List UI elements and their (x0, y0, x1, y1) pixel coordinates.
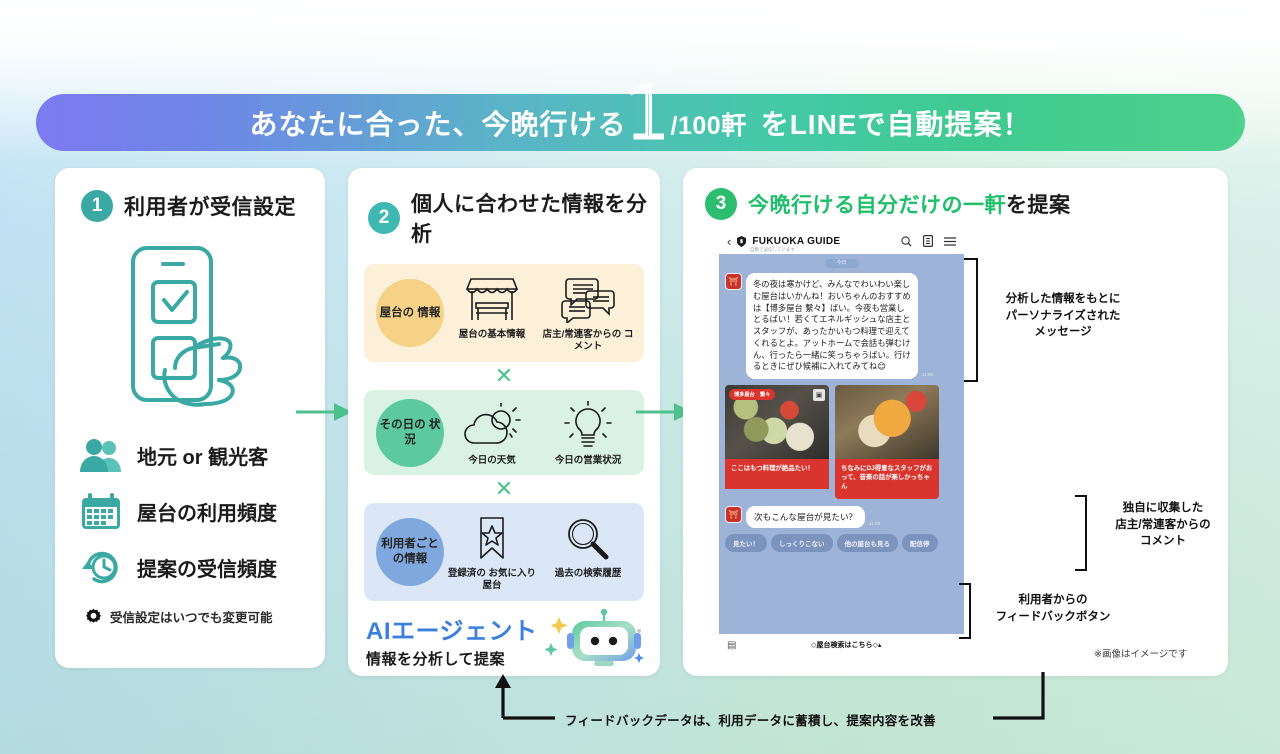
feature-label-2: 提案の受信頻度 (137, 553, 277, 582)
line-chat-mockup: ‹ FUKUOKA GUIDE 自動で返信しています (719, 228, 964, 656)
annotation-text-0: 分析した情報をもとに パーソナライズされた メッセージ (1006, 293, 1121, 338)
bracket-annotation-0 (964, 258, 978, 382)
photo-icon: ▣ (813, 389, 825, 401)
multiply-separator-1: ✕ (348, 475, 660, 503)
market-stall-icon (444, 273, 540, 323)
line-chat-header: ‹ FUKUOKA GUIDE 自動で返信しています (719, 228, 964, 254)
multiply-separator-0: ✕ (348, 362, 660, 390)
feature-item-2: 提案の受信頻度 (79, 539, 325, 595)
stall-card-badge-0: 博多屋台 繋々 (729, 389, 775, 400)
annotation-feedback-buttons: 利用者からの フィードバックボタン (978, 592, 1128, 625)
feedback-chip-row: 見たい！ しっくりこない 他の屋台も見る 配信停 (725, 534, 958, 552)
group-circle-text-1: その日の 状況 (376, 418, 444, 448)
image-disclaimer-note: ※画像はイメージです (1094, 646, 1187, 660)
header-banner: あなたに合った、今晩行ける 1 /100軒 をLINEで自動提案！ (36, 94, 1245, 151)
avatar: ⛩ (725, 273, 742, 290)
stall-card-caption-1: ちなみにDJ得意なスタッフがおって、音楽の話が楽しかっちゃん (835, 459, 939, 499)
people-icon (79, 433, 123, 477)
banner-denominator: /100軒 (671, 106, 747, 142)
feedback-chip-2[interactable]: 他の屋台も見る (837, 534, 899, 552)
data-group-user-info: 利用者ごと の情報 登録済の お気に入り屋台 (364, 503, 644, 601)
stall-photo-0: 博多屋台 繋々 ▣ (725, 385, 829, 459)
panel3-step-badge: 3 (705, 188, 737, 220)
ai-agent-title: AIエージェント (366, 611, 538, 646)
panel-line-proposal: 3 今晩行ける自分だけの一軒を提案 ‹ FUKUOKA GUIDE 自動で返信し… (683, 168, 1228, 676)
chat-message-row-ask: ⛩ 次もこんな屋台が見たい？ 11:58 (725, 506, 958, 528)
chevron-left-icon[interactable]: ‹ (727, 235, 731, 248)
chat-ask-time: 11:58 (869, 521, 880, 526)
data-group-daily-status: その日の 状況 今日の天気 (364, 390, 644, 475)
annotation-personalized-message: 分析した情報をもとに パーソナライズされた メッセージ (983, 291, 1143, 341)
feature-label-1: 屋台の利用頻度 (137, 497, 277, 526)
ai-agent-section: AIエージェント 情報を分析して提案 (366, 609, 660, 671)
stall-card-caption-0: ここはもつ料理が絶品たい！ (725, 459, 829, 489)
group-circle-label-0: 屋台の 情報 (376, 279, 444, 347)
panel2-title: 個人に合わせた情報を分析 (411, 188, 660, 248)
lightbulb-icon (540, 399, 636, 449)
panel2-header: 2 個人に合わせた情報を分析 (368, 188, 660, 248)
group1-item-label-0: 今日の天気 (444, 455, 540, 467)
bookmark-star-icon (444, 512, 540, 562)
annotation-owner-comments: 独自に収集した 店主/常連客からの コメント (1093, 500, 1233, 550)
group0-item-1: 店主/常連客からの コメント (540, 273, 636, 354)
stall-search-link[interactable]: ◇屋台検索はこちら◇▴ (736, 640, 956, 650)
chat-message-time: 11:58 (922, 372, 933, 377)
line-account-subtitle: 自動で返信しています (750, 247, 795, 253)
group-circle-label-1: その日の 状況 (376, 399, 444, 467)
search-icon[interactable] (901, 236, 912, 247)
group-circle-text-0: 屋台の 情報 (380, 306, 441, 321)
gear-icon (85, 608, 102, 625)
panel1-title: 利用者が受信設定 (124, 191, 296, 221)
feature-item-1: 屋台の利用頻度 (79, 483, 325, 539)
panel3-title: 今晩行ける自分だけの一軒を提案 (748, 189, 1071, 219)
group2-item-label-0: 登録済の お気に入り屋台 (444, 568, 540, 593)
clock-history-icon (79, 545, 123, 589)
group0-item-label-1: 店主/常連客からの コメント (540, 329, 636, 354)
note-icon[interactable] (923, 235, 933, 247)
panel1-footnote: 受信設定はいつでも変更可能 (85, 607, 325, 626)
avatar: ⛩ (725, 506, 742, 523)
group1-item-1: 今日の営業状況 (540, 399, 636, 467)
group1-item-0: 今日の天気 (444, 399, 540, 467)
panel3-title-rest: を提案 (1006, 194, 1071, 217)
feedback-chip-0[interactable]: 見たい！ (725, 534, 767, 552)
stall-card-1[interactable]: ちなみにDJ得意なスタッフがおって、音楽の話が楽しかっちゃん (835, 385, 939, 499)
feature-label-0: 地元 or 観光客 (137, 441, 268, 470)
speech-bubbles-icon (540, 273, 636, 323)
feedback-loop-note: フィードバックデータは、利用データに蓄積し、提案内容を改善 (565, 710, 936, 729)
group0-item-label-0: 屋台の基本情報 (444, 329, 540, 341)
panel1-footnote-text: 受信設定はいつでも変更可能 (110, 607, 273, 626)
sun-cloud-icon (444, 399, 540, 449)
panel1-feature-list: 地元 or 観光客 (79, 427, 325, 595)
group2-item-1: 過去の検索履歴 (540, 512, 636, 593)
annotation-text-1: 独自に収集した 店主/常連客からの コメント (1115, 502, 1210, 547)
panel3-header: 3 今晩行ける自分だけの一軒を提案 (705, 188, 1228, 220)
panel1-header: 1 利用者が受信設定 (81, 190, 325, 222)
banner-tail-text: をLINEで自動提案！ (761, 103, 1032, 143)
chat-day-label: 今日 (825, 259, 859, 268)
banner-lead-text: あなたに合った、今晩行ける (250, 103, 627, 143)
group2-item-label-1: 過去の検索履歴 (540, 568, 636, 580)
chat-message-bubble: 冬の夜は寒かけど、みんなでわいわい楽しむ屋台はいかんね！おいちゃんのおすすめは【… (746, 273, 918, 379)
group-circle-label-2: 利用者ごと の情報 (376, 518, 444, 586)
calendar-icon (79, 489, 123, 533)
group0-item-0: 屋台の基本情報 (444, 273, 540, 354)
group1-item-label-1: 今日の営業状況 (540, 455, 636, 467)
stall-photo-1 (835, 385, 939, 459)
feature-item-0: 地元 or 観光客 (79, 427, 325, 483)
stall-photo-cards: 博多屋台 繋々 ▣ ここはもつ料理が絶品たい！ ちなみにDJ得意なスタッフがおっ… (725, 385, 958, 499)
robot-icon (542, 609, 646, 671)
line-chat-body: 今日 ⛩ 冬の夜は寒かけど、みんなでわいわい楽しむ屋台はいかんね！おいちゃんのお… (719, 254, 964, 634)
chat-message-row-main: ⛩ 冬の夜は寒かけど、みんなでわいわい楽しむ屋台はいかんね！おいちゃんのおすすめ… (725, 273, 958, 379)
panel-user-settings: 1 利用者が受信設定 (55, 168, 325, 668)
data-group-stall-info: 屋台の 情報 屋台の基本情報 (364, 264, 644, 362)
bracket-annotation-1 (1075, 495, 1087, 571)
panel2-step-badge: 2 (368, 202, 400, 234)
stall-card-0[interactable]: 博多屋台 繋々 ▣ ここはもつ料理が絶品たい！ (725, 385, 829, 499)
annotation-text-2: 利用者からの フィードバックボタン (996, 594, 1111, 623)
panel1-step-badge: 1 (81, 190, 113, 222)
feedback-chip-1[interactable]: しっくりこない (771, 534, 833, 552)
group2-item-0: 登録済の お気に入り屋台 (444, 512, 540, 593)
keyboard-icon[interactable]: ▤ (727, 640, 736, 651)
group-circle-text-2: 利用者ごと の情報 (376, 537, 444, 567)
ai-agent-subtitle: 情報を分析して提案 (366, 648, 538, 669)
line-account-name: FUKUOKA GUIDE (752, 236, 840, 247)
shield-icon (737, 236, 746, 247)
feedback-chip-3[interactable]: 配信停 (902, 534, 938, 552)
bracket-annotation-2 (959, 583, 971, 639)
chat-ask-bubble: 次もこんな屋台が見たい？ (746, 506, 865, 528)
panel-ai-analysis: 2 個人に合わせた情報を分析 屋台の 情報 (348, 168, 660, 676)
panel3-title-highlight: 今晩行ける自分だけの一軒 (748, 194, 1006, 217)
menu-icon[interactable] (944, 236, 956, 247)
line-chat-footer: ▤ ◇屋台検索はこちら◇▴ (719, 634, 964, 656)
phone-checklist-tap-icon (115, 240, 265, 415)
arrow-panel1-to-panel2-icon (296, 400, 352, 424)
magnifier-icon (540, 512, 636, 562)
